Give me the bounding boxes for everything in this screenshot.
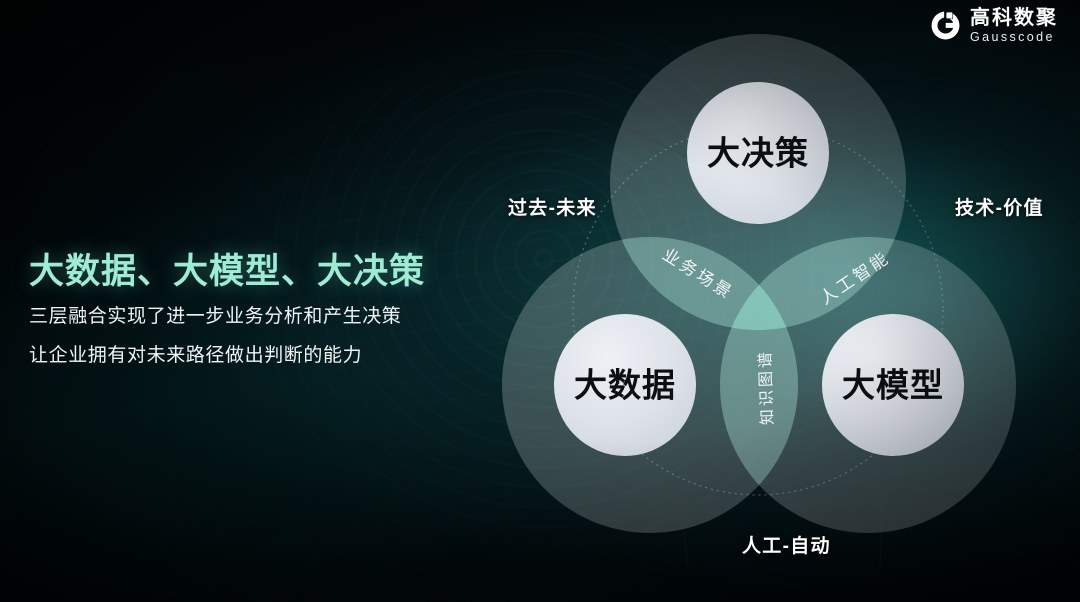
axis-caption-left: 过去-未来	[508, 193, 597, 220]
slide-canvas: 大决策 大数据 大模型 业务场景 人工智能 知识图谱 过去-未来 技术-价值 人…	[0, 0, 1080, 602]
subtitle-line-2: 让企业拥有对未来路径做出判断的能力	[29, 346, 479, 365]
logo-name-cn: 高科数聚	[970, 8, 1058, 28]
core-label-decision: 大决策	[707, 135, 809, 172]
axis-caption-bottom: 人工-自动	[742, 531, 831, 558]
overlap-label-kg: 知识图谱	[756, 349, 777, 426]
logo-text: 高科数聚 Gausscode	[970, 8, 1058, 44]
brand-logo[interactable]: 高科数聚 Gausscode	[930, 8, 1058, 44]
venn-diagram: 大决策 大数据 大模型 业务场景 人工智能 知识图谱	[480, 10, 1080, 570]
logo-name-en: Gausscode	[970, 31, 1058, 44]
page-title: 大数据、大模型、大决策	[29, 252, 479, 291]
core-label-bigmodel: 大模型	[842, 367, 944, 404]
axis-caption-right: 技术-价值	[955, 193, 1044, 220]
subtitle-line-1: 三层融合实现了进一步业务分析和产生决策	[29, 307, 479, 326]
left-text-block: 大数据、大模型、大决策 三层融合实现了进一步业务分析和产生决策 让企业拥有对未来…	[29, 252, 479, 365]
gausscode-circle-mark-icon	[930, 10, 961, 41]
core-label-bigdata: 大数据	[574, 367, 676, 404]
